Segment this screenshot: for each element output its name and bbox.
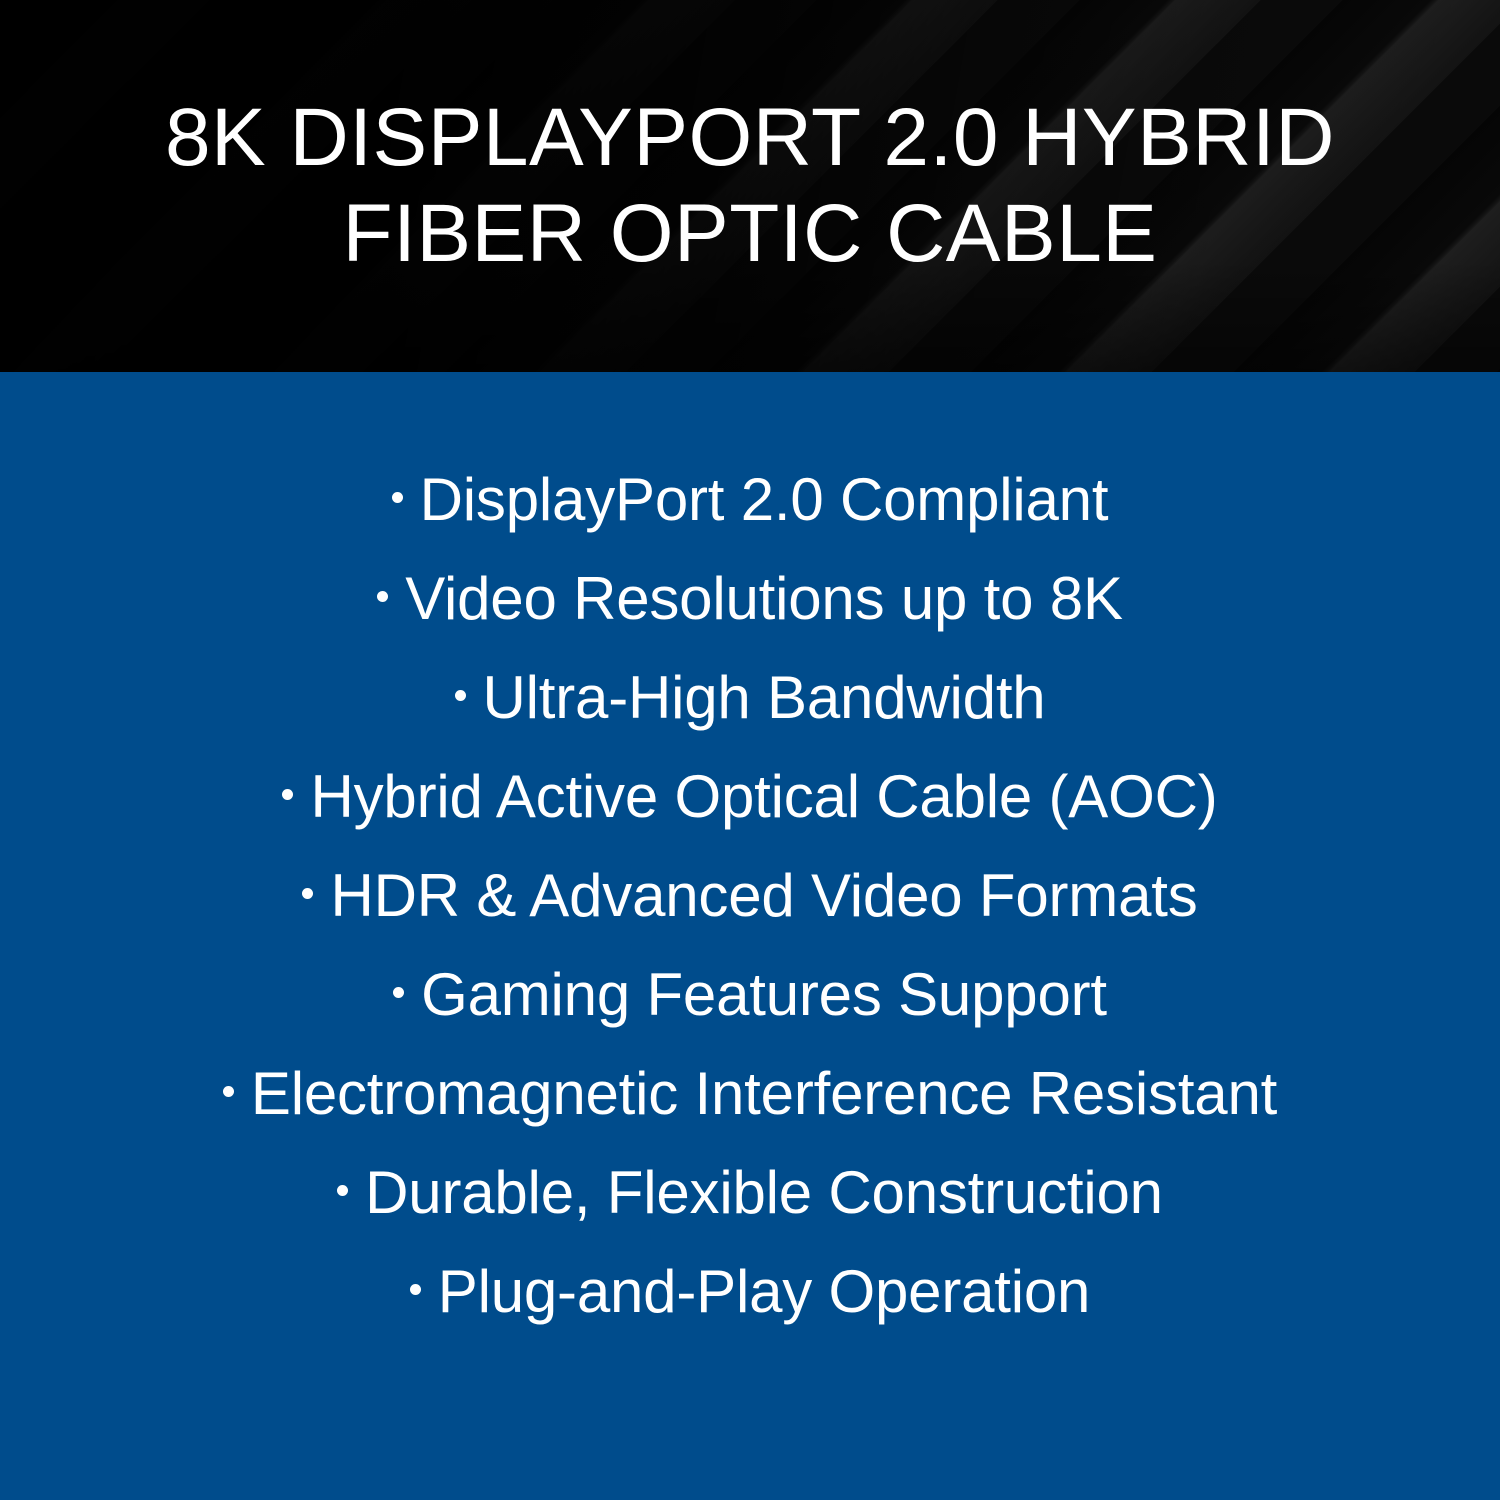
bullet-dot-icon <box>392 492 403 503</box>
list-item: Ultra-High Bandwidth <box>0 648 1500 747</box>
bullet-dot-icon <box>377 591 388 602</box>
list-item: DisplayPort 2.0 Compliant <box>0 450 1500 549</box>
bullet-dot-icon <box>282 789 293 800</box>
feature-label: Plug-and-Play Operation <box>438 1262 1090 1322</box>
bullet-dot-icon <box>302 888 313 899</box>
list-item: Hybrid Active Optical Cable (AOC) <box>0 747 1500 846</box>
product-title-header: 8K DISPLAYPORT 2.0 HYBRID FIBER OPTIC CA… <box>0 0 1500 372</box>
feature-label: Durable, Flexible Construction <box>365 1163 1163 1223</box>
feature-label: Ultra-High Bandwidth <box>483 668 1046 728</box>
page-title: 8K DISPLAYPORT 2.0 HYBRID FIBER OPTIC CA… <box>0 90 1500 282</box>
feature-label: HDR & Advanced Video Formats <box>330 866 1197 926</box>
bullet-dot-icon <box>455 690 466 701</box>
product-feature-card: 8K DISPLAYPORT 2.0 HYBRID FIBER OPTIC CA… <box>0 0 1500 1500</box>
feature-label: Hybrid Active Optical Cable (AOC) <box>310 767 1217 827</box>
feature-label: Video Resolutions up to 8K <box>405 569 1123 629</box>
bullet-dot-icon <box>337 1185 348 1196</box>
list-item: Video Resolutions up to 8K <box>0 549 1500 648</box>
bullet-dot-icon <box>410 1284 421 1295</box>
list-item: Gaming Features Support <box>0 945 1500 1044</box>
bullet-dot-icon <box>223 1086 234 1097</box>
feature-list: DisplayPort 2.0 Compliant Video Resoluti… <box>0 372 1500 1500</box>
list-item: Durable, Flexible Construction <box>0 1143 1500 1242</box>
feature-label: Gaming Features Support <box>421 965 1107 1025</box>
feature-label: Electromagnetic Interference Resistant <box>251 1064 1277 1124</box>
feature-label: DisplayPort 2.0 Compliant <box>420 470 1109 530</box>
bullet-dot-icon <box>393 987 404 998</box>
list-item: HDR & Advanced Video Formats <box>0 846 1500 945</box>
list-item: Electromagnetic Interference Resistant <box>0 1044 1500 1143</box>
title-line-2: FIBER OPTIC CABLE <box>40 186 1460 282</box>
list-item: Plug-and-Play Operation <box>0 1242 1500 1341</box>
title-line-1: 8K DISPLAYPORT 2.0 HYBRID <box>40 90 1460 186</box>
